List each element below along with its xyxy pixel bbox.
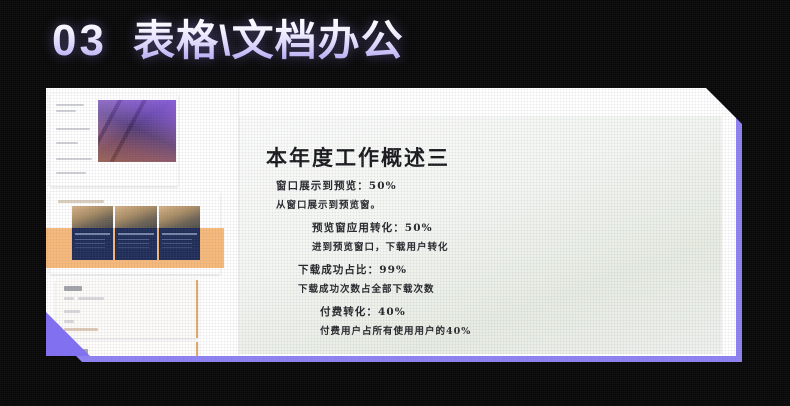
metric-group: 下载成功占比：99% 下载成功次数占全部下载次数 <box>240 262 722 295</box>
slide-preview-panel[interactable]: 本年度工作概述三 窗口展示到预览：50% 从窗口展示到预览窗。 预览窗应用转化：… <box>46 88 736 356</box>
placeholder-line <box>56 104 84 106</box>
metric-group: 窗口展示到预览：50% 从窗口展示到预览窗。 <box>240 178 722 211</box>
grid-column <box>159 206 200 260</box>
thumbnail-strip[interactable] <box>46 88 246 356</box>
placeholder-line <box>56 128 90 130</box>
placeholder-line <box>78 297 104 300</box>
thumbnail-photo-abstract <box>98 100 176 162</box>
document-body: 窗口展示到预览：50% 从窗口展示到预览窗。 预览窗应用转化：50% 进到预览窗… <box>240 178 722 346</box>
placeholder-line <box>64 310 80 313</box>
placeholder-line <box>64 320 74 323</box>
page-title: 表格\文档办公 <box>133 18 404 64</box>
slide-thumb-text-a[interactable] <box>56 280 198 338</box>
grid-column-image <box>72 206 113 228</box>
placeholder-line <box>56 142 78 144</box>
metric-description: 付费用户占所有使用用户的40% <box>320 323 722 337</box>
placeholder-line <box>56 110 76 112</box>
slide-thumb-three-column[interactable] <box>50 192 220 274</box>
three-column-grid <box>72 206 200 260</box>
grid-column <box>72 206 113 260</box>
grid-column-caption <box>159 228 200 260</box>
metric-description: 进到预览窗口，下载用户转化 <box>312 239 722 253</box>
placeholder-line <box>56 172 86 174</box>
placeholder-line <box>64 328 98 331</box>
placeholder-line <box>64 297 74 300</box>
placeholder-line <box>56 158 92 160</box>
metric-heading: 付费转化：40% <box>320 304 722 319</box>
placeholder-heading <box>64 286 82 291</box>
slide-thumb-purple-photo[interactable] <box>50 94 178 186</box>
document-heading: 本年度工作概述三 <box>266 142 450 172</box>
grid-column-image <box>159 206 200 228</box>
metric-heading: 下载成功占比：99% <box>298 262 722 277</box>
section-number: 03 <box>52 18 107 64</box>
metric-group: 付费转化：40% 付费用户占所有使用用户的40% <box>240 304 722 337</box>
panel-divider <box>238 88 239 356</box>
metric-heading: 预览窗应用转化：50% <box>312 220 722 235</box>
metric-description: 从窗口展示到预览窗。 <box>276 197 722 211</box>
grid-column-caption <box>115 228 156 260</box>
grid-column-image <box>115 206 156 228</box>
grid-column-caption <box>72 228 113 260</box>
metric-description: 下载成功次数占全部下载次数 <box>298 281 722 295</box>
placeholder-title <box>58 200 104 203</box>
document-slide[interactable]: 本年度工作概述三 窗口展示到预览：50% 从窗口展示到预览窗。 预览窗应用转化：… <box>240 116 722 354</box>
metric-group: 预览窗应用转化：50% 进到预览窗口，下载用户转化 <box>240 220 722 253</box>
metric-heading: 窗口展示到预览：50% <box>276 178 722 193</box>
panel-body: 本年度工作概述三 窗口展示到预览：50% 从窗口展示到预览窗。 预览窗应用转化：… <box>46 88 736 356</box>
page-header: 03 表格\文档办公 <box>52 18 404 64</box>
grid-column <box>115 206 156 260</box>
